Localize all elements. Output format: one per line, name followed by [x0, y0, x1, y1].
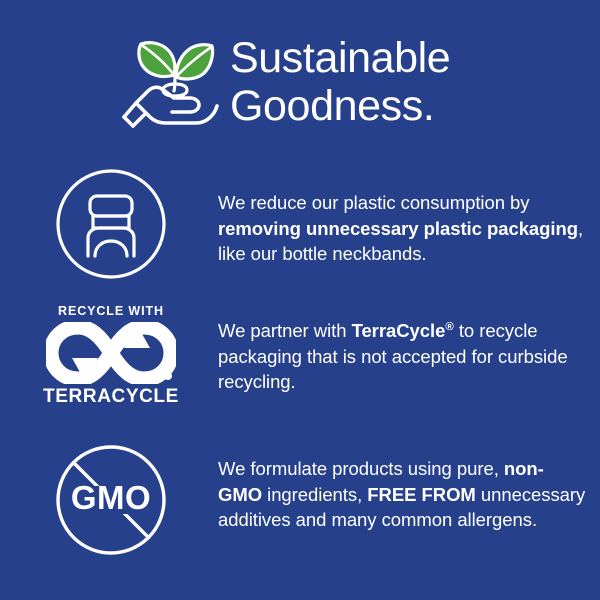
terracycle-logo: RECYCLE WITH TERRACYCLE: [46, 304, 176, 407]
gmo-label: GMO: [71, 479, 151, 516]
recycle-with-label: RECYCLE WITH: [58, 304, 164, 318]
page-title: Sustainable Goodness.: [230, 34, 450, 130]
sustainable-goodness-panel: Sustainable Goodness. We reduce our plas…: [0, 0, 600, 600]
terracycle-wordmark: TERRACYCLE: [43, 387, 179, 407]
bottle-neckband-icon: [55, 168, 167, 280]
feature-icon-cell: GMO: [0, 444, 218, 556]
feature-icon-cell: [0, 168, 218, 280]
feature-row-gmo: GMO We formulate products using pure, no…: [0, 444, 600, 556]
feature-icon-cell: RECYCLE WITH TERRACYCLE: [0, 304, 218, 407]
feature-text-plastic: We reduce our plastic consumption by rem…: [218, 168, 600, 267]
infinity-recycle-icon: [46, 322, 176, 384]
header: Sustainable Goodness.: [0, 26, 600, 136]
hand-holding-plant-icon: [118, 31, 222, 131]
feature-row-terracycle: RECYCLE WITH TERRACYCLE We partner with …: [0, 304, 600, 407]
feature-text-gmo: We formulate products using pure, non-GM…: [218, 444, 600, 533]
feature-text-terracycle: We partner with TerraCycle® to recycle p…: [218, 304, 600, 395]
feature-row-plastic: We reduce our plastic consumption by rem…: [0, 168, 600, 280]
no-gmo-icon: GMO: [55, 444, 167, 556]
